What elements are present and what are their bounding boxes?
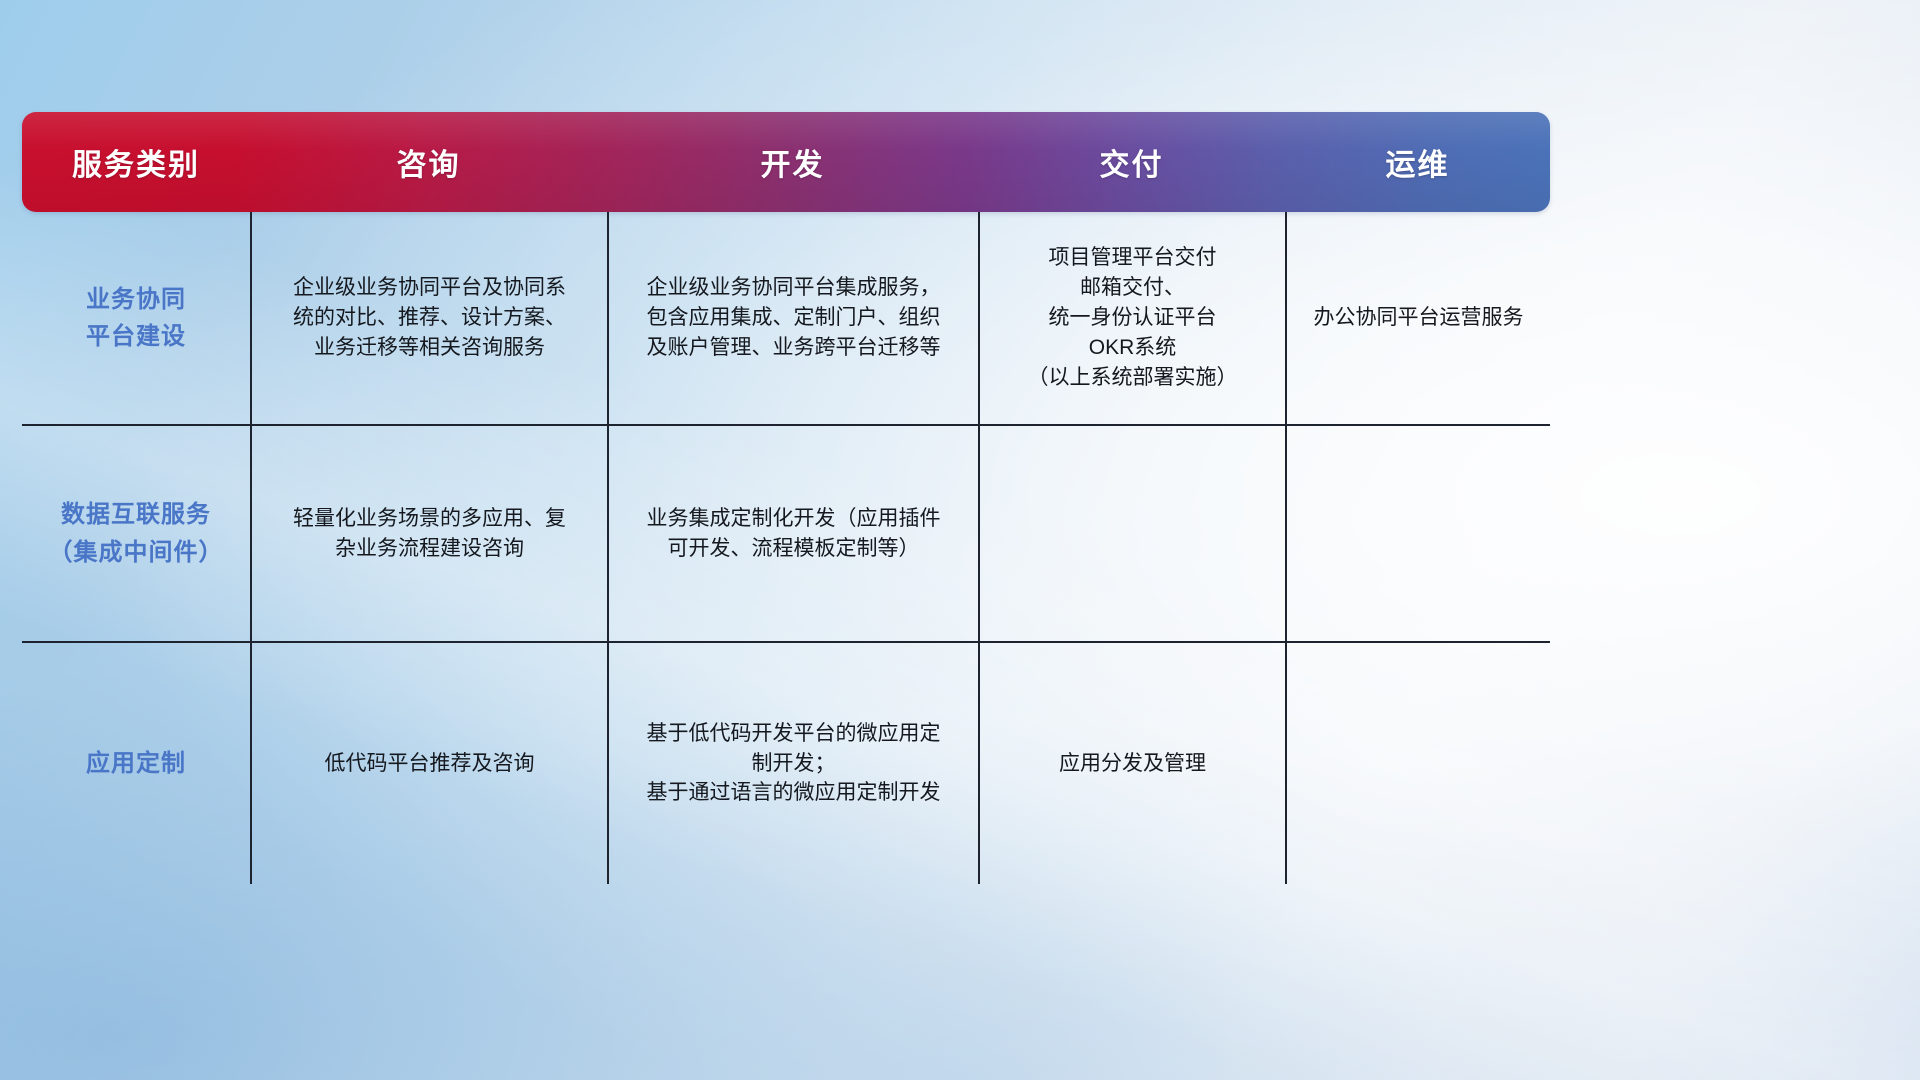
table-body: 业务协同 平台建设 企业级业务协同平台及协同系 统的对比、推荐、设计方案、 业务… [22,212,1550,884]
table-row: 数据互联服务 （集成中间件） 轻量化业务场景的多应用、复 杂业务流程建设咨询 业… [22,424,1550,641]
table-row: 应用定制 低代码平台推荐及咨询 基于低代码开发平台的微应用定 制开发； 基于通过… [22,641,1550,884]
cell-delivery: 应用分发及管理 [978,643,1285,884]
cell-development: 企业级业务协同平台集成服务， 包含应用集成、定制门户、组织 及账户管理、业务跨平… [607,212,978,424]
row-category-label: 应用定制 [22,643,250,884]
cell-delivery [978,426,1285,641]
column-header-development: 开发 [607,112,978,212]
cell-development: 基于低代码开发平台的微应用定 制开发； 基于通过语言的微应用定制开发 [607,643,978,884]
column-header-category: 服务类别 [22,112,250,212]
column-header-operations: 运维 [1285,112,1550,212]
table-row: 业务协同 平台建设 企业级业务协同平台及协同系 统的对比、推荐、设计方案、 业务… [22,212,1550,424]
cell-consulting: 轻量化业务场景的多应用、复 杂业务流程建设咨询 [250,426,607,641]
row-category-label: 业务协同 平台建设 [22,212,250,424]
cell-consulting: 企业级业务协同平台及协同系 统的对比、推荐、设计方案、 业务迁移等相关咨询服务 [250,212,607,424]
cell-consulting: 低代码平台推荐及咨询 [250,643,607,884]
table-header-row: 服务类别 咨询 开发 交付 运维 [22,112,1550,212]
service-matrix-table: 服务类别 咨询 开发 交付 运维 业务协同 平台建设 企业级业务协同平台及协同系… [22,112,1550,780]
cell-delivery: 项目管理平台交付 邮箱交付、 统一身份认证平台 OKR系统 （以上系统部署实施） [978,212,1285,424]
cell-operations [1285,643,1550,884]
cell-development: 业务集成定制化开发（应用插件 可开发、流程模板定制等） [607,426,978,641]
column-header-delivery: 交付 [978,112,1285,212]
column-header-consulting: 咨询 [250,112,607,212]
cell-operations [1285,426,1550,641]
row-category-label: 数据互联服务 （集成中间件） [22,426,250,641]
cell-operations: 办公协同平台运营服务 [1285,212,1550,424]
